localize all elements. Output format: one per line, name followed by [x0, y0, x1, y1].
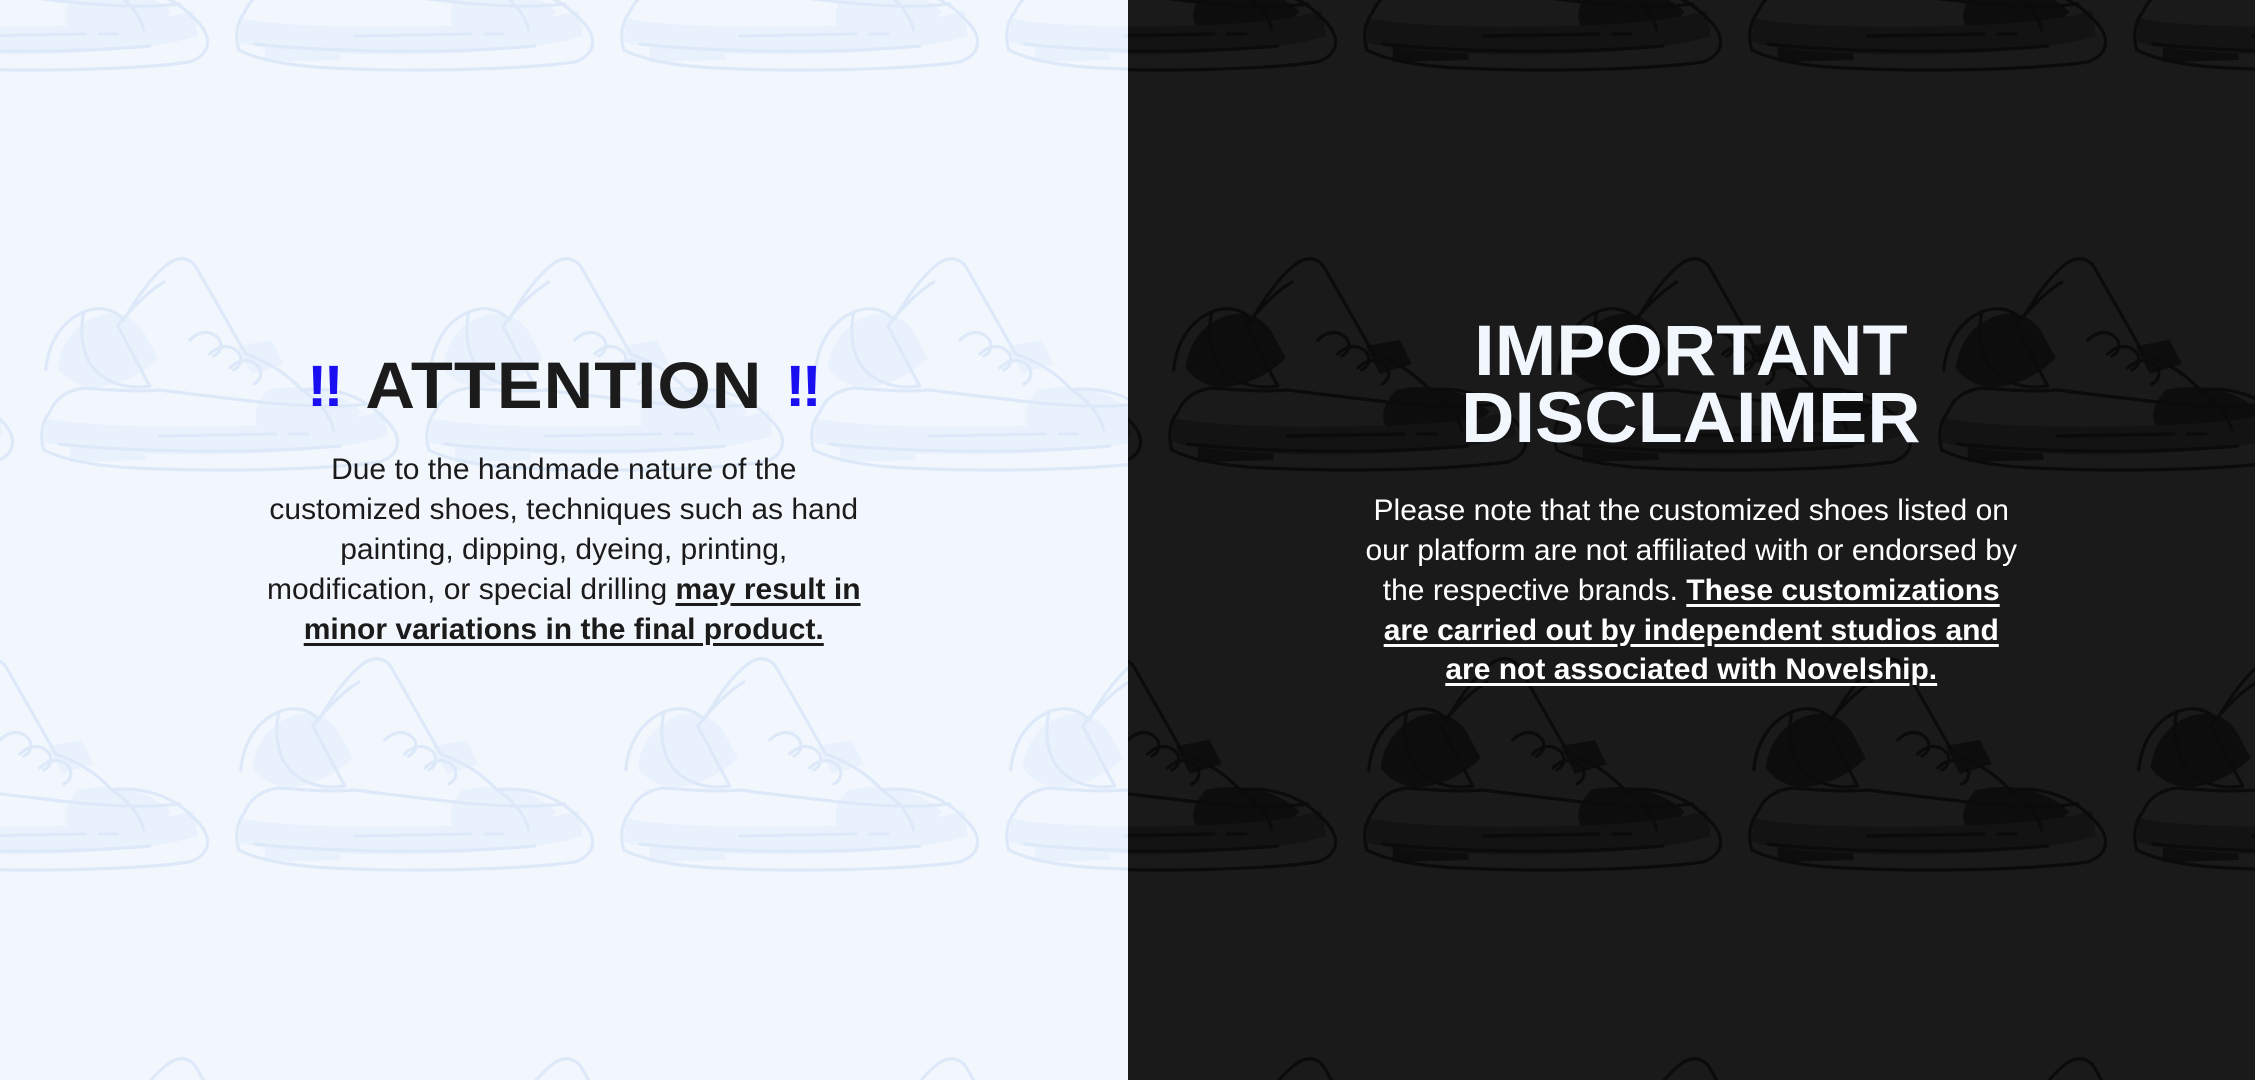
double-exclamation-icon-right: ‼: [785, 354, 820, 419]
attention-content: ‼ATTENTION‼ Due to the handmade nature o…: [0, 0, 1128, 1080]
attention-heading-text: ATTENTION: [365, 348, 762, 422]
double-exclamation-icon-left: ‼: [307, 354, 342, 419]
disclaimer-banner: ‼ATTENTION‼ Due to the handmade nature o…: [0, 0, 2255, 1080]
disclaimer-body: Please note that the customized shoes li…: [1361, 491, 2021, 690]
attention-heading: ‼ATTENTION‼: [307, 352, 821, 418]
disclaimer-content: IMPORTANTDISCLAIMER Please note that the…: [1128, 0, 2255, 1080]
disclaimer-heading-line2: DISCLAIMER: [1462, 379, 1921, 458]
disclaimer-heading: IMPORTANTDISCLAIMER: [1462, 318, 1921, 453]
disclaimer-panel: IMPORTANTDISCLAIMER Please note that the…: [1128, 0, 2255, 1080]
attention-panel: ‼ATTENTION‼ Due to the handmade nature o…: [0, 0, 1128, 1080]
attention-body: Due to the handmade nature of the custom…: [254, 450, 874, 649]
